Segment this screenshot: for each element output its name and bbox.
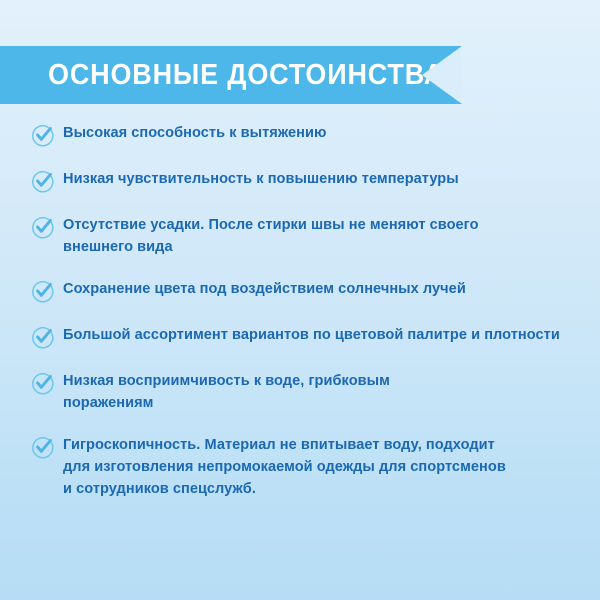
check-circle-icon xyxy=(31,435,55,459)
benefits-list: Высокая способность к вытяжению Низкая ч… xyxy=(0,122,600,520)
list-item: Низкая восприимчивость к воде, грибковым… xyxy=(0,370,600,414)
section-banner: ОСНОВНЫЕ ДОСТОИНСТВА xyxy=(0,46,462,104)
list-item: Большой ассортимент вариантов по цветово… xyxy=(0,324,600,350)
check-circle-icon xyxy=(31,325,55,349)
list-item-label: Высокая способность к вытяжению xyxy=(63,122,568,144)
list-item-label: Сохранение цвета под воздействием солнеч… xyxy=(63,278,568,300)
check-circle-icon xyxy=(31,279,55,303)
banner-title: ОСНОВНЫЕ ДОСТОИНСТВА xyxy=(48,46,444,104)
check-circle-icon xyxy=(31,123,55,147)
list-item-label: Отсутствие усадки. После стирки швы не м… xyxy=(63,214,568,258)
check-circle-icon xyxy=(31,169,55,193)
list-item-label: Низкая восприимчивость к воде, грибковым… xyxy=(63,370,568,414)
list-item-label: Большой ассортимент вариантов по цветово… xyxy=(63,324,568,346)
list-item: Отсутствие усадки. После стирки швы не м… xyxy=(0,214,600,258)
check-circle-icon xyxy=(31,215,55,239)
list-item-label: Низкая чувствительность к повышению темп… xyxy=(63,168,568,190)
infographic-page: ОСНОВНЫЕ ДОСТОИНСТВА Высокая способность… xyxy=(0,0,600,600)
list-item: Высокая способность к вытяжению xyxy=(0,122,600,148)
check-circle-icon xyxy=(31,371,55,395)
list-item-label: Гигроскопичность. Материал не впитывает … xyxy=(63,434,568,500)
list-item: Гигроскопичность. Материал не впитывает … xyxy=(0,434,600,500)
list-item: Сохранение цвета под воздействием солнеч… xyxy=(0,278,600,304)
list-item: Низкая чувствительность к повышению темп… xyxy=(0,168,600,194)
